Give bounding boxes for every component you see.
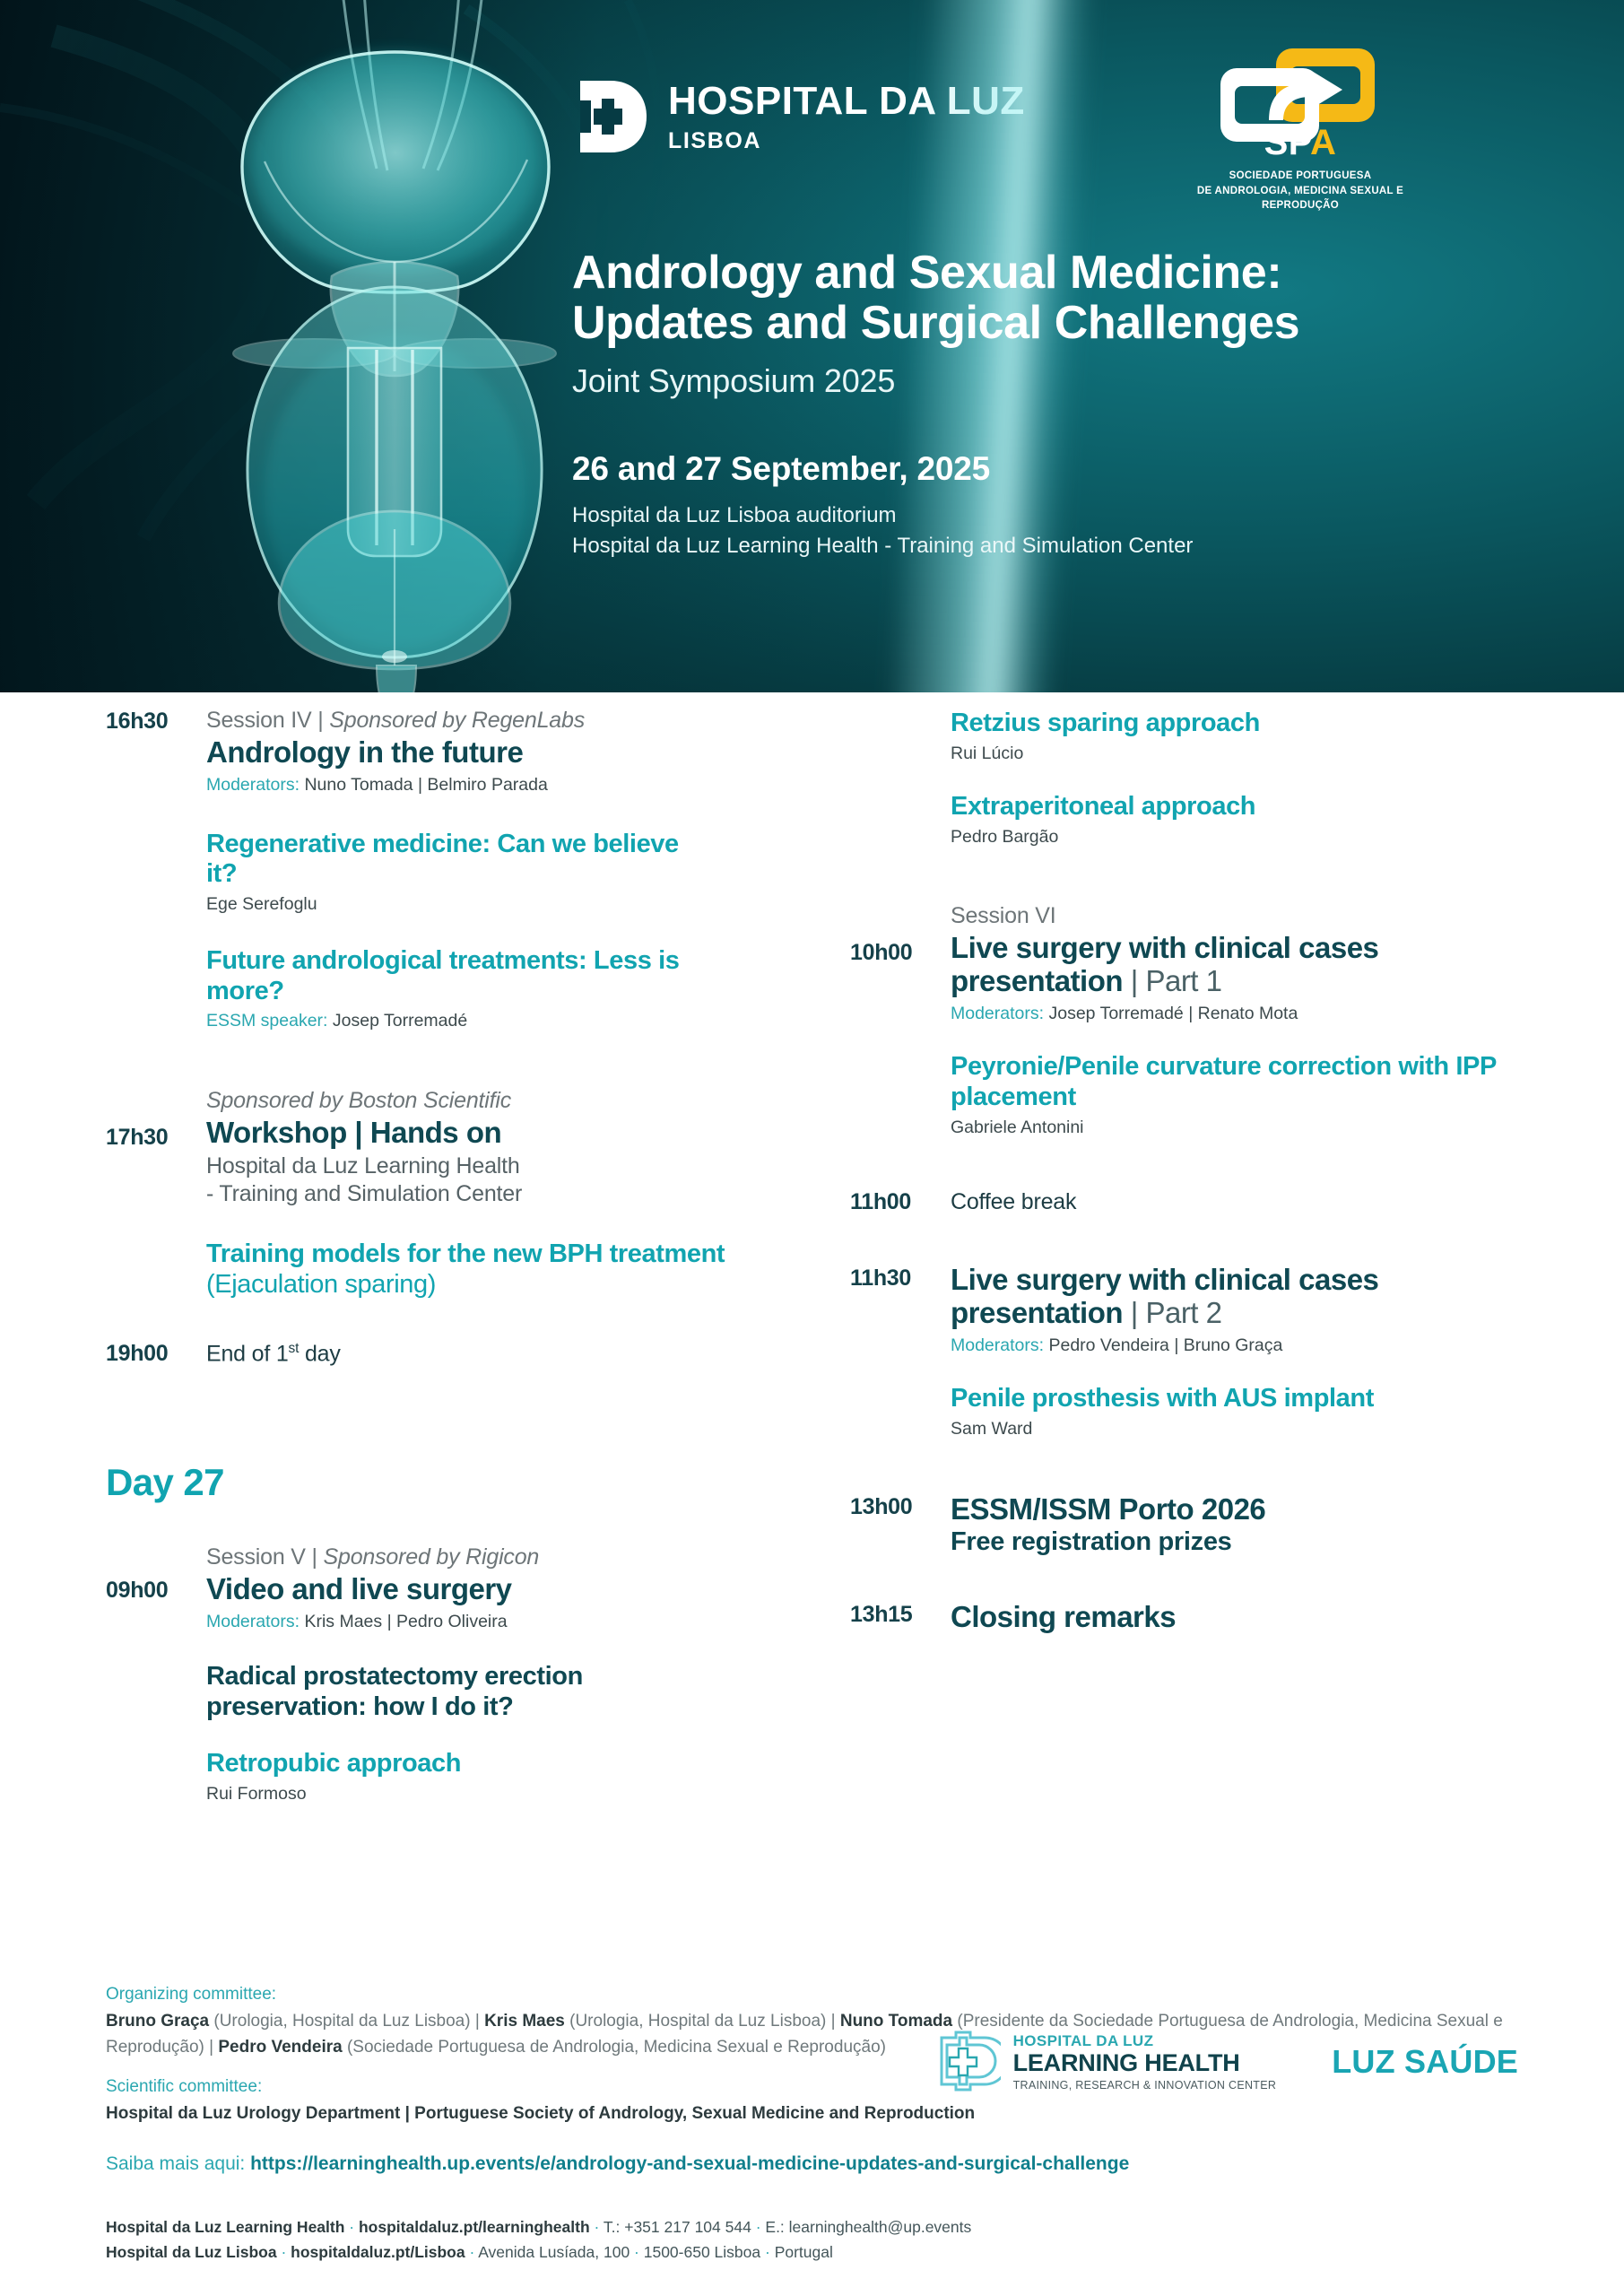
session-label: Session IV | Sponsored by RegenLabs <box>206 707 787 735</box>
program-entry-live-surgery-part2: 11h30 Live surgery with clinical cases p… <box>850 1262 1532 1357</box>
moderators-label: Moderators: <box>951 1335 1044 1355</box>
program-column-right: Retzius sparing approach Rui Lúcio Extra… <box>850 692 1532 1634</box>
learning-health-cross-icon <box>934 2029 1001 2095</box>
entry-time: 16h30 <box>106 707 206 735</box>
speaker-name: Josep Torremadé <box>333 1011 467 1031</box>
talk-title: Training models for the new BPH treatmen… <box>206 1239 735 1300</box>
end-of-day-post: day <box>299 1342 340 1367</box>
organizing-committee-label: Organizing committee: <box>106 1982 1518 2008</box>
learning-health-logo: HOSPITAL DA LUZ LEARNING HEALTH TRAINING… <box>934 2029 1277 2095</box>
session-label: Session VI <box>951 902 1498 930</box>
entry-plain-text: End of 1st day <box>206 1339 787 1367</box>
essm-title: ESSM/ISSM Porto 2026 <box>951 1492 1265 1526</box>
entry-time: 17h30 <box>106 1087 206 1151</box>
program-entry-essm-issm: 13h00 ESSM/ISSM Porto 2026Free registrat… <box>850 1492 1532 1557</box>
talk-speaker: Sam Ward <box>951 1418 1532 1440</box>
hospital-cross-logo-icon <box>578 79 648 154</box>
moderators-label: Moderators: <box>206 775 300 795</box>
contact-org-1: Hospital da Luz Learning Health <box>106 2218 344 2236</box>
entry-plain-text: Coffee break <box>951 1187 1532 1215</box>
talk-title: Regenerative medicine: Can we believe it… <box>206 830 708 890</box>
speaker-label: ESSM speaker: <box>206 1011 327 1031</box>
entry-time: 11h00 <box>850 1187 951 1215</box>
poster-footer: Organizing committee: Bruno Graça (Urolo… <box>0 1982 1624 2265</box>
contact-email-1[interactable]: E.: learninghealth@up.events <box>765 2218 971 2236</box>
contact-address-2: Avenida Lusíada, 100 <box>478 2243 630 2261</box>
session-moderators: Moderators: Josep Torremadé | Renato Mot… <box>951 1003 1498 1025</box>
venue-line-2: Hospital da Luz Learning Health - Traini… <box>572 531 1585 561</box>
session-moderators: Moderators: Nuno Tomada | Belmiro Parada <box>206 774 787 796</box>
event-url-row[interactable]: Saiba mais aqui: https://learninghealth.… <box>106 2153 1518 2175</box>
talk-title: Extraperitoneal approach <box>951 792 1532 822</box>
learning-health-line3: TRAINING, RESEARCH & INNOVATION CENTER <box>1013 2080 1277 2092</box>
essm-subtitle: Free registration prizes <box>951 1527 1532 1557</box>
organizer-affil-2: (Urologia, Hospital da Luz Lisboa) | <box>565 2012 840 2031</box>
program-entry-closing-remarks: 13h15 Closing remarks <box>850 1600 1532 1634</box>
contact-country-2: Portugal <box>775 2243 833 2261</box>
moderators-names: Kris Maes | Pedro Oliveira <box>304 1612 507 1631</box>
spa-acronym: SPA <box>1166 125 1435 161</box>
entry-time: 13h00 <box>850 1492 951 1520</box>
session-sponsor: Sponsored by Rigicon <box>324 1544 540 1570</box>
contact-phone-1: T.: +351 217 104 544 <box>604 2218 751 2236</box>
talk-title-bold: Training models for the new BPH treatmen… <box>206 1239 725 1268</box>
poster-subtitle: Joint Symposium 2025 <box>572 362 1585 400</box>
contact-block: Hospital da Luz Learning Health · hospit… <box>106 2214 1518 2265</box>
entry-time: 13h15 <box>850 1600 951 1628</box>
end-of-day-ordinal: st <box>289 1341 300 1356</box>
moderators-names: Nuno Tomada | Belmiro Parada <box>304 775 547 795</box>
program-entry-retzius: Retzius sparing approach Rui Lúcio <box>850 709 1532 765</box>
program-column-left: 16h30 Session IV | Sponsored by RegenLab… <box>106 692 787 1805</box>
contact-line-1: Hospital da Luz Learning Health · hospit… <box>106 2214 1518 2239</box>
talk-title-thin: (Ejaculation sparing) <box>206 1270 436 1299</box>
poster-title-line1: Andrology and Sexual Medicine: <box>572 248 1585 298</box>
talk-speaker: Rui Lúcio <box>951 743 1532 765</box>
program-entry-bph-training: Training models for the new BPH treatmen… <box>106 1239 787 1300</box>
program-entry-regenerative-medicine: Regenerative medicine: Can we believe it… <box>106 830 787 917</box>
program-entry-penile-prosthesis: Penile prosthesis with AUS implant Sam W… <box>850 1384 1532 1440</box>
scientific-committee-value: Hospital da Luz Urology Department | Por… <box>106 2104 975 2123</box>
session-moderators: Moderators: Kris Maes | Pedro Oliveira <box>206 1611 787 1633</box>
organizer-name-1: Bruno Graça <box>106 2012 209 2031</box>
program-entry-peyronie: Peyronie/Penile curvature correction wit… <box>850 1052 1532 1139</box>
session-sponsor: Sponsored by Boston Scientific <box>206 1088 511 1113</box>
spa-logo: SPA SOCIEDADE PORTUGUESA DE ANDROLOGIA, … <box>1166 43 1435 213</box>
moderators-names: Pedro Vendeira | Bruno Graça <box>1048 1335 1282 1355</box>
talk-title: Retropubic approach <box>206 1749 787 1779</box>
program-entry-workshop: 17h30 Sponsored by Boston Scientific Wor… <box>106 1087 787 1209</box>
entry-title: Closing remarks <box>951 1600 1532 1634</box>
talk-title: Future andrological treatments: Less is … <box>206 946 762 1006</box>
program-entry-session-4: 16h30 Session IV | Sponsored by RegenLab… <box>106 707 787 797</box>
talk-speaker: ESSM speaker: Josep Torremadé <box>206 1010 762 1032</box>
program-entry-radical-prostatectomy: Radical prostatectomy erection preservat… <box>106 1662 787 1722</box>
organizer-affil-1: (Urologia, Hospital da Luz Lisboa) | <box>209 2012 484 2031</box>
talk-title: Retzius sparing approach <box>951 709 1532 739</box>
contact-line-2: Hospital da Luz Lisboa · hospitaldaluz.p… <box>106 2239 1518 2265</box>
hero-banner: HOSPITAL DA LUZ LISBOA SPA SOCIEDADE POR… <box>0 0 1624 692</box>
organizer-name-2: Kris Maes <box>484 2012 565 2031</box>
session-title: Live surgery with clinical cases present… <box>951 1264 1498 1330</box>
day-header: Day 27 <box>106 1461 787 1504</box>
contact-zip-2: 1500-650 Lisboa <box>644 2243 760 2261</box>
organizer-name-4: Pedro Vendeira <box>218 2038 342 2057</box>
spa-caption-line1: SOCIEDADE PORTUGUESA <box>1166 169 1435 184</box>
talk-title: Radical prostatectomy erection preservat… <box>206 1662 744 1722</box>
entry-time: 09h00 <box>106 1544 206 1604</box>
session-prefix: Session IV | <box>206 708 329 733</box>
talk-speaker: Rui Formoso <box>206 1783 787 1805</box>
venue-line-1: Hospital da Luz Lisboa auditorium <box>572 500 1585 531</box>
session-title: Live surgery with clinical cases present… <box>951 932 1498 998</box>
learning-health-line1: HOSPITAL DA LUZ <box>1013 2033 1277 2048</box>
session-part: | Part 2 <box>1123 1296 1221 1329</box>
entry-time: 10h00 <box>850 902 951 966</box>
workshop-venue-line2: - Training and Simulation Center <box>206 1180 787 1209</box>
contact-site-1[interactable]: hospitaldaluz.pt/learninghealth <box>359 2218 590 2236</box>
spa-acronym-sp: SP <box>1264 123 1310 162</box>
session-sponsor: Sponsored by RegenLabs <box>329 708 585 733</box>
organizer-affil-4: (Sociedade Portuguesa de Andrologia, Med… <box>343 2038 886 2057</box>
contact-site-2[interactable]: hospitaldaluz.pt/Lisboa <box>291 2243 465 2261</box>
session-title: Workshop | Hands on <box>206 1117 787 1150</box>
moderators-label: Moderators: <box>206 1612 300 1631</box>
program-entry-end-of-day: 19h00 End of 1st day <box>106 1339 787 1367</box>
contact-org-2: Hospital da Luz Lisboa <box>106 2243 277 2261</box>
moderators-names: Josep Torremadé | Renato Mota <box>1048 1004 1298 1023</box>
program-entry-session-5: 09h00 Session V | Sponsored by Rigicon V… <box>106 1544 787 1634</box>
learning-health-line2: LEARNING HEALTH <box>1013 2051 1277 2075</box>
program-entry-retropubic: Retropubic approach Rui Formoso <box>106 1749 787 1805</box>
luz-saude-logo: LUZ SAÚDE <box>1332 2043 1518 2081</box>
talk-speaker: Ege Serefoglu <box>206 893 708 916</box>
hero-text-block: Andrology and Sexual Medicine: Updates a… <box>572 248 1585 561</box>
session-label: Sponsored by Boston Scientific <box>206 1087 787 1115</box>
session-moderators: Moderators: Pedro Vendeira | Bruno Graça <box>951 1335 1498 1357</box>
day-27-header-row: Day 27 <box>106 1461 787 1504</box>
session-prefix: Session V | <box>206 1544 324 1570</box>
program-entry-future-treatments: Future andrological treatments: Less is … <box>106 946 787 1033</box>
entry-time: 11h30 <box>850 1262 951 1291</box>
scientific-committee-text: Hospital da Luz Urology Department | Por… <box>106 2100 1518 2126</box>
footer-logos: HOSPITAL DA LUZ LEARNING HEALTH TRAINING… <box>934 2029 1518 2095</box>
session-part: | Part 1 <box>1123 964 1221 997</box>
spa-acronym-a: A <box>1310 123 1336 162</box>
program-entry-coffee-break: 11h00 Coffee break <box>850 1187 1532 1215</box>
talk-speaker: Gabriele Antonini <box>951 1117 1524 1139</box>
session-title: Video and live surgery <box>206 1573 787 1606</box>
talk-speaker: Pedro Bargão <box>951 826 1532 848</box>
organizer-name-3: Nuno Tomada <box>840 2012 952 2031</box>
session-label: Session V | Sponsored by Rigicon <box>206 1544 787 1571</box>
spa-caption-line2: DE ANDROLOGIA, MEDICINA SEXUAL E REPRODU… <box>1166 184 1435 213</box>
program-entry-session-6: 10h00 Session VI Live surgery with clini… <box>850 902 1532 1026</box>
conference-poster: HOSPITAL DA LUZ LISBOA SPA SOCIEDADE POR… <box>0 0 1624 2296</box>
program-schedule: 16h30 Session IV | Sponsored by RegenLab… <box>0 692 1624 2038</box>
event-url-link[interactable]: https://learninghealth.up.events/e/andro… <box>250 2153 1129 2174</box>
poster-title-line2: Updates and Surgical Challenges <box>572 298 1585 348</box>
talk-title: Penile prosthesis with AUS implant <box>951 1384 1532 1414</box>
entry-time: 19h00 <box>106 1339 206 1367</box>
url-label: Saiba mais aqui: <box>106 2153 250 2174</box>
workshop-venue-line1: Hospital da Luz Learning Health <box>206 1152 787 1181</box>
moderators-label: Moderators: <box>951 1004 1044 1023</box>
talk-title: Peyronie/Penile curvature correction wit… <box>951 1052 1524 1112</box>
session-title: Andrology in the future <box>206 736 787 770</box>
end-of-day-pre: End of 1 <box>206 1342 289 1367</box>
event-date: 26 and 27 September, 2025 <box>572 450 1585 488</box>
program-entry-extraperitoneal: Extraperitoneal approach Pedro Bargão <box>850 792 1532 848</box>
entry-title: ESSM/ISSM Porto 2026Free registration pr… <box>951 1492 1532 1557</box>
